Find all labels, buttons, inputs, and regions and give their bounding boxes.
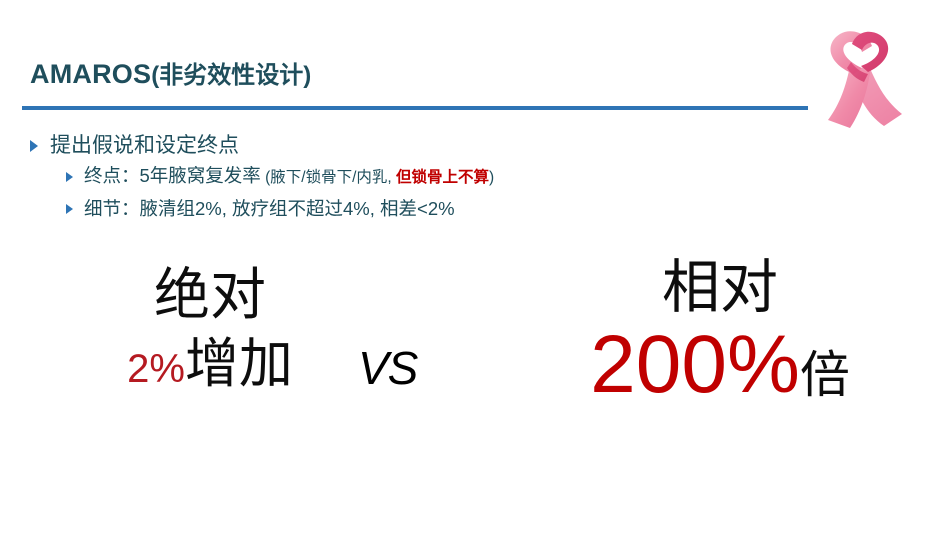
comparison-left-heading: 绝对 [60, 262, 360, 328]
bullet-details-label: 细节：腋清组2%, 放疗组不超过4%, 相差<2% [84, 198, 455, 219]
comparison-separator: VS [358, 340, 417, 396]
bullet-triangle-icon [66, 172, 73, 182]
comparison-right-column: 相对 200%倍 [520, 254, 920, 418]
bullet-triangle-icon [66, 204, 73, 214]
page-title: AMAROS(非劣效性设计) [30, 57, 311, 93]
comparison-right-value: 200% [590, 319, 800, 410]
bullet-endpoint-note-emphasis: 但锁骨上不算 [396, 169, 489, 186]
bullet-level2-item-endpoint: 终点：5年腋窝复发率 (腋下/锁骨下/内乳, 但锁骨上不算) [64, 160, 728, 193]
comparison-right-value-row: 200%倍 [520, 322, 920, 418]
page-title-sub: (非劣效性设计) [151, 62, 311, 89]
slide-canvas: AMAROS(非劣效性设计) [0, 0, 925, 545]
comparison-right-heading: 相对 [520, 254, 920, 322]
bullet-level1-label: 提出假说和设定终点 [50, 134, 239, 157]
bullet-endpoint-note-tail: ) [489, 169, 494, 186]
comparison-left-value: 2% [127, 347, 185, 391]
comparison-block: 绝对 2%增加 VS 相对 200%倍 [0, 262, 925, 467]
bullet-endpoint-label: 终点：5年腋窝复发率 [84, 165, 261, 186]
comparison-left-unit: 增加 [185, 334, 293, 394]
comparison-left-value-row: 2%增加 [60, 328, 360, 405]
bullet-list: 提出假说和设定终点 终点：5年腋窝复发率 (腋下/锁骨下/内乳, 但锁骨上不算)… [28, 131, 728, 224]
comparison-right-unit: 倍 [800, 347, 850, 403]
bullet-level1-item: 提出假说和设定终点 [28, 131, 728, 160]
bullet-triangle-icon [30, 140, 38, 152]
pink-awareness-ribbon-icon [806, 22, 918, 130]
comparison-left-column: 绝对 2%增加 [60, 262, 360, 405]
page-title-main: AMAROS [30, 59, 151, 89]
bullet-level2-item-details: 细节：腋清组2%, 放疗组不超过4%, 相差<2% [64, 193, 728, 224]
bullet-endpoint-note: (腋下/锁骨下/内乳, [261, 169, 396, 186]
title-underline-divider [22, 106, 808, 110]
